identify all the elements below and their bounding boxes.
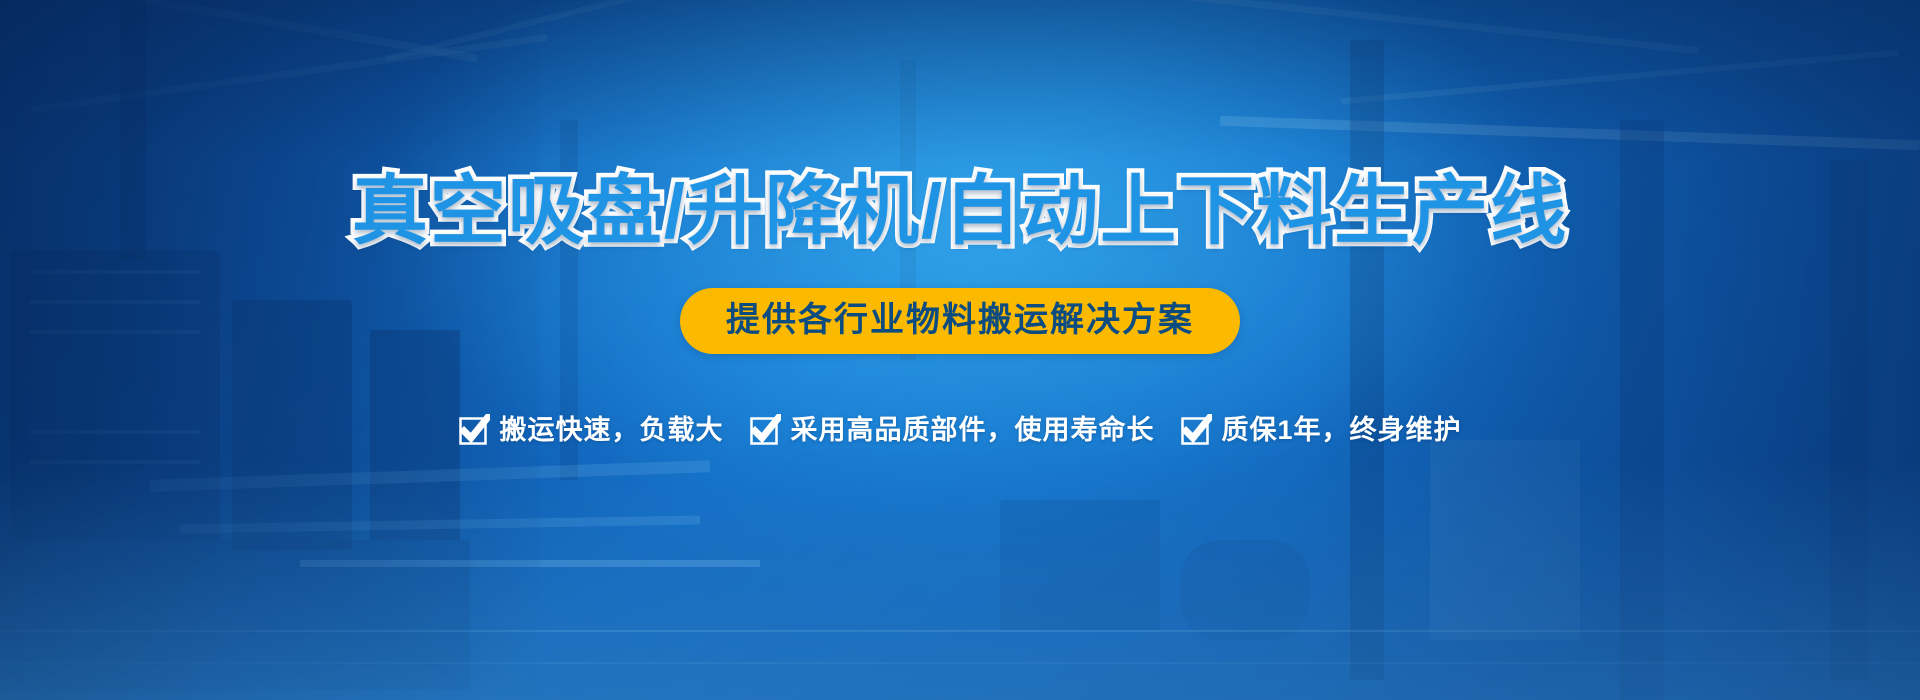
- banner-subtitle-wrap: 提供各行业物料搬运解决方案: [0, 288, 1920, 354]
- banner-title: 真空吸盘/升降机/自动上下料生产线: [0, 174, 1920, 250]
- feature-item: 搬运快速，负载大: [458, 414, 723, 446]
- promo-banner: 真空吸盘/升降机/自动上下料生产线 提供各行业物料搬运解决方案 搬运快速，负载大: [0, 0, 1920, 700]
- feature-item: 质保1年，终身维护: [1180, 414, 1461, 446]
- checkbox-check-icon: [749, 414, 781, 446]
- feature-item: 采用高品质部件，使用寿命长: [749, 414, 1154, 446]
- checkbox-check-icon: [1180, 414, 1212, 446]
- banner-content: 真空吸盘/升降机/自动上下料生产线 提供各行业物料搬运解决方案 搬运快速，负载大: [0, 0, 1920, 700]
- checkbox-check-icon: [458, 414, 490, 446]
- feature-label: 质保1年，终身维护: [1221, 417, 1461, 444]
- banner-subtitle-pill: 提供各行业物料搬运解决方案: [680, 288, 1240, 354]
- feature-label: 采用高品质部件，使用寿命长: [790, 417, 1154, 444]
- feature-label: 搬运快速，负载大: [499, 417, 723, 444]
- banner-feature-list: 搬运快速，负载大 采用高品质部件，使用寿命长: [0, 414, 1920, 446]
